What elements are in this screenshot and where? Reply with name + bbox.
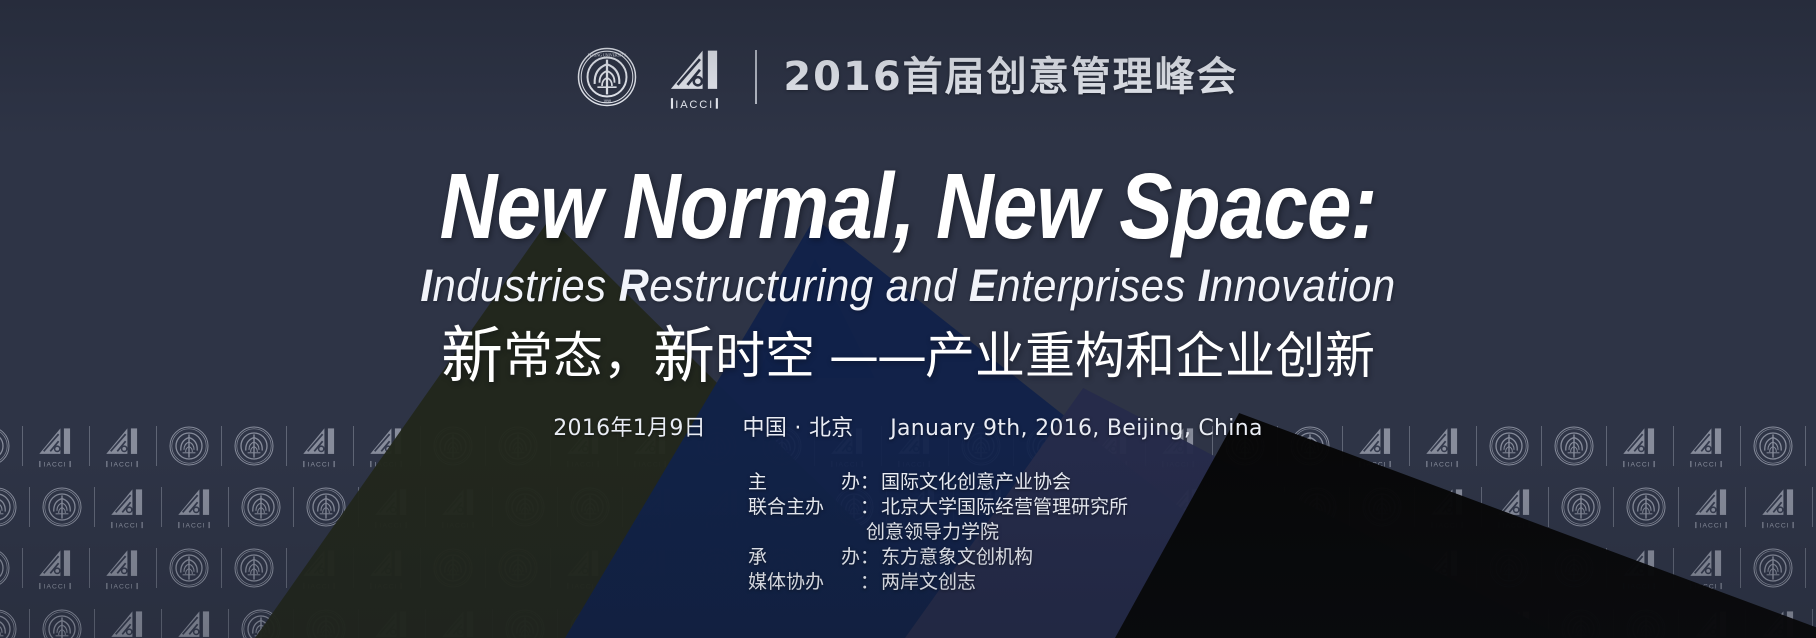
hero-cn-small-1: 常态，	[503, 327, 653, 385]
watermark-cell: IACCI	[1758, 485, 1816, 529]
subtitle-part-6: I	[1198, 260, 1210, 311]
organizer-label: 联合主办	[748, 495, 860, 520]
svg-text:IACCI: IACCI	[116, 522, 139, 528]
subtitle-part-1: ndustries	[432, 260, 618, 311]
pku-seal-icon	[1561, 487, 1601, 527]
svg-text:IACCI: IACCI	[1700, 522, 1723, 528]
watermark-divider	[161, 487, 162, 527]
watermark-cell: IACCI	[0, 546, 102, 590]
date-cn: 2016年1月9日	[553, 416, 706, 441]
organizer-row: 主办：国际文化创意产业协会	[748, 470, 1128, 495]
date-en: January 9th, 2016, Beijing, China	[890, 416, 1263, 441]
watermark-divider	[29, 609, 30, 638]
watermark-cell: IACCI	[0, 485, 42, 529]
subtitle-part-0: I	[420, 260, 432, 311]
iacci-logo-icon: IACCI	[663, 44, 729, 110]
watermark-divider	[293, 487, 294, 527]
watermark-divider	[94, 609, 95, 638]
summit-title: 2016首届创意管理峰会	[783, 57, 1238, 97]
subtitle-part-5: nterprises	[997, 260, 1198, 311]
pku-seal-icon	[0, 609, 17, 638]
hero-cn-small-2: 时空	[715, 327, 815, 385]
svg-text:IACCI: IACCI	[183, 522, 206, 528]
iacci-logo-icon: IACCI	[174, 607, 216, 638]
organizer-list: 主办：国际文化创意产业协会联合主办：北京大学国际经营管理研究所创意领导力学院承办…	[748, 470, 1128, 595]
svg-text:IACCI: IACCI	[44, 583, 67, 589]
subtitle-segments: Industries Restructuring and Enterprises…	[420, 260, 1395, 311]
iacci-logo-icon: IACCI	[102, 546, 144, 590]
iacci-wordmark: IACCI	[676, 99, 715, 110]
watermark-divider	[1548, 487, 1549, 527]
svg-text:IACCI: IACCI	[1431, 461, 1454, 467]
organizer-value: 创意领导力学院	[748, 520, 999, 545]
iacci-logo-icon: IACCI	[1691, 485, 1733, 529]
pku-seal-icon	[42, 609, 82, 638]
hero-subtitle-en: Industries Restructuring and Enterprises…	[64, 263, 1753, 308]
svg-text:IACCI: IACCI	[111, 583, 134, 589]
iacci-logo-icon: IACCI	[1758, 485, 1800, 529]
subtitle-part-2: R	[619, 260, 650, 311]
hero-title-cn: 新常态，新时空 ——产业重构和企业创新	[0, 325, 1816, 387]
header-divider	[755, 50, 757, 104]
watermark-divider	[221, 548, 222, 588]
iacci-logo-icon: IACCI	[35, 546, 77, 590]
watermark-cell: IACCI	[1686, 546, 1816, 590]
hero-cn-big-2: 新	[653, 319, 715, 392]
organizer-label: 媒体协办	[748, 570, 860, 595]
subtitle-part-3: estructuring and	[649, 260, 969, 311]
watermark-divider	[228, 609, 229, 638]
watermark-divider	[1613, 487, 1614, 527]
organizer-row: 联合主办：北京大学国际经营管理研究所	[748, 495, 1128, 520]
hero-title-en: New Normal, New Space:	[127, 160, 1689, 253]
watermark-divider	[22, 548, 23, 588]
watermark-divider	[228, 487, 229, 527]
subtitle-part-7: nnovation	[1210, 260, 1396, 311]
organizer-value: 两岸文创志	[881, 570, 976, 595]
watermark-divider	[1678, 487, 1679, 527]
iacci-logo-icon: IACCI	[107, 607, 149, 638]
organizer-row: 创意领导力学院	[748, 520, 1128, 545]
svg-text:IACCI: IACCI	[111, 461, 134, 467]
subtitle-part-4: E	[969, 260, 997, 311]
pku-seal-icon	[42, 487, 82, 527]
watermark-cell: IACCI	[174, 485, 306, 529]
pku-seal-icon	[1626, 487, 1666, 527]
pku-seal-icon	[1753, 548, 1793, 588]
place-cn: 中国 · 北京	[743, 416, 854, 441]
pku-seal-icon: PEKING UNIVERSITY 1898	[577, 47, 637, 107]
watermark-cell: IACCI	[42, 607, 174, 638]
watermark-cell: IACCI	[0, 607, 42, 638]
svg-text:PEKING UNIVERSITY: PEKING UNIVERSITY	[588, 53, 627, 57]
svg-text:IACCI: IACCI	[1628, 461, 1651, 467]
watermark-divider	[29, 487, 30, 527]
hero-cn-tail: 产业重构和企业创新	[925, 327, 1375, 385]
event-banner: IACCIIACCIIACCIIACCIIACCIIACCIIACCIIACCI…	[0, 0, 1816, 638]
organizer-row: 媒体协办：两岸文创志	[748, 570, 1128, 595]
banner-header: PEKING UNIVERSITY 1898 IACCI 2016首届创意管理峰…	[0, 44, 1816, 110]
watermark-divider	[1740, 548, 1741, 588]
watermark-divider	[1812, 487, 1813, 527]
iacci-logo-icon: IACCI	[107, 485, 149, 529]
watermark-cell: IACCI	[42, 485, 174, 529]
svg-text:IACCI: IACCI	[308, 461, 331, 467]
watermark-divider	[286, 548, 287, 588]
organizer-value: 国际文化创意产业协会	[881, 470, 1071, 495]
watermark-cell: IACCI	[102, 546, 234, 590]
organizer-row: 承办：东方意象文创机构	[748, 545, 1128, 570]
pku-seal-icon	[241, 487, 281, 527]
hero-cn-dash: ——	[815, 327, 925, 385]
svg-text:IACCI: IACCI	[1767, 522, 1790, 528]
svg-text:1898: 1898	[603, 100, 611, 104]
watermark-divider	[94, 487, 95, 527]
svg-text:IACCI: IACCI	[44, 461, 67, 467]
organizer-value: 东方意象文创机构	[881, 545, 1033, 570]
pku-seal-icon	[234, 548, 274, 588]
watermark-divider	[89, 548, 90, 588]
watermark-divider	[156, 548, 157, 588]
organizer-label: 主办	[748, 470, 860, 495]
hero-cn-big-1: 新	[441, 319, 503, 392]
pku-seal-icon	[0, 487, 17, 527]
watermark-divider	[161, 609, 162, 638]
pku-seal-icon	[169, 548, 209, 588]
organizer-value: 北京大学国际经营管理研究所	[881, 495, 1128, 520]
pku-seal-icon	[0, 548, 10, 588]
watermark-divider	[1805, 548, 1806, 588]
organizer-label: 承办	[748, 545, 860, 570]
watermark-cell: IACCI	[1626, 485, 1758, 529]
iacci-logo-icon: IACCI	[174, 485, 216, 529]
event-dateline: 2016年1月9日 中国 · 北京 January 9th, 2016, Bei…	[0, 410, 1816, 442]
svg-text:IACCI: IACCI	[1695, 461, 1718, 467]
watermark-divider	[1745, 487, 1746, 527]
